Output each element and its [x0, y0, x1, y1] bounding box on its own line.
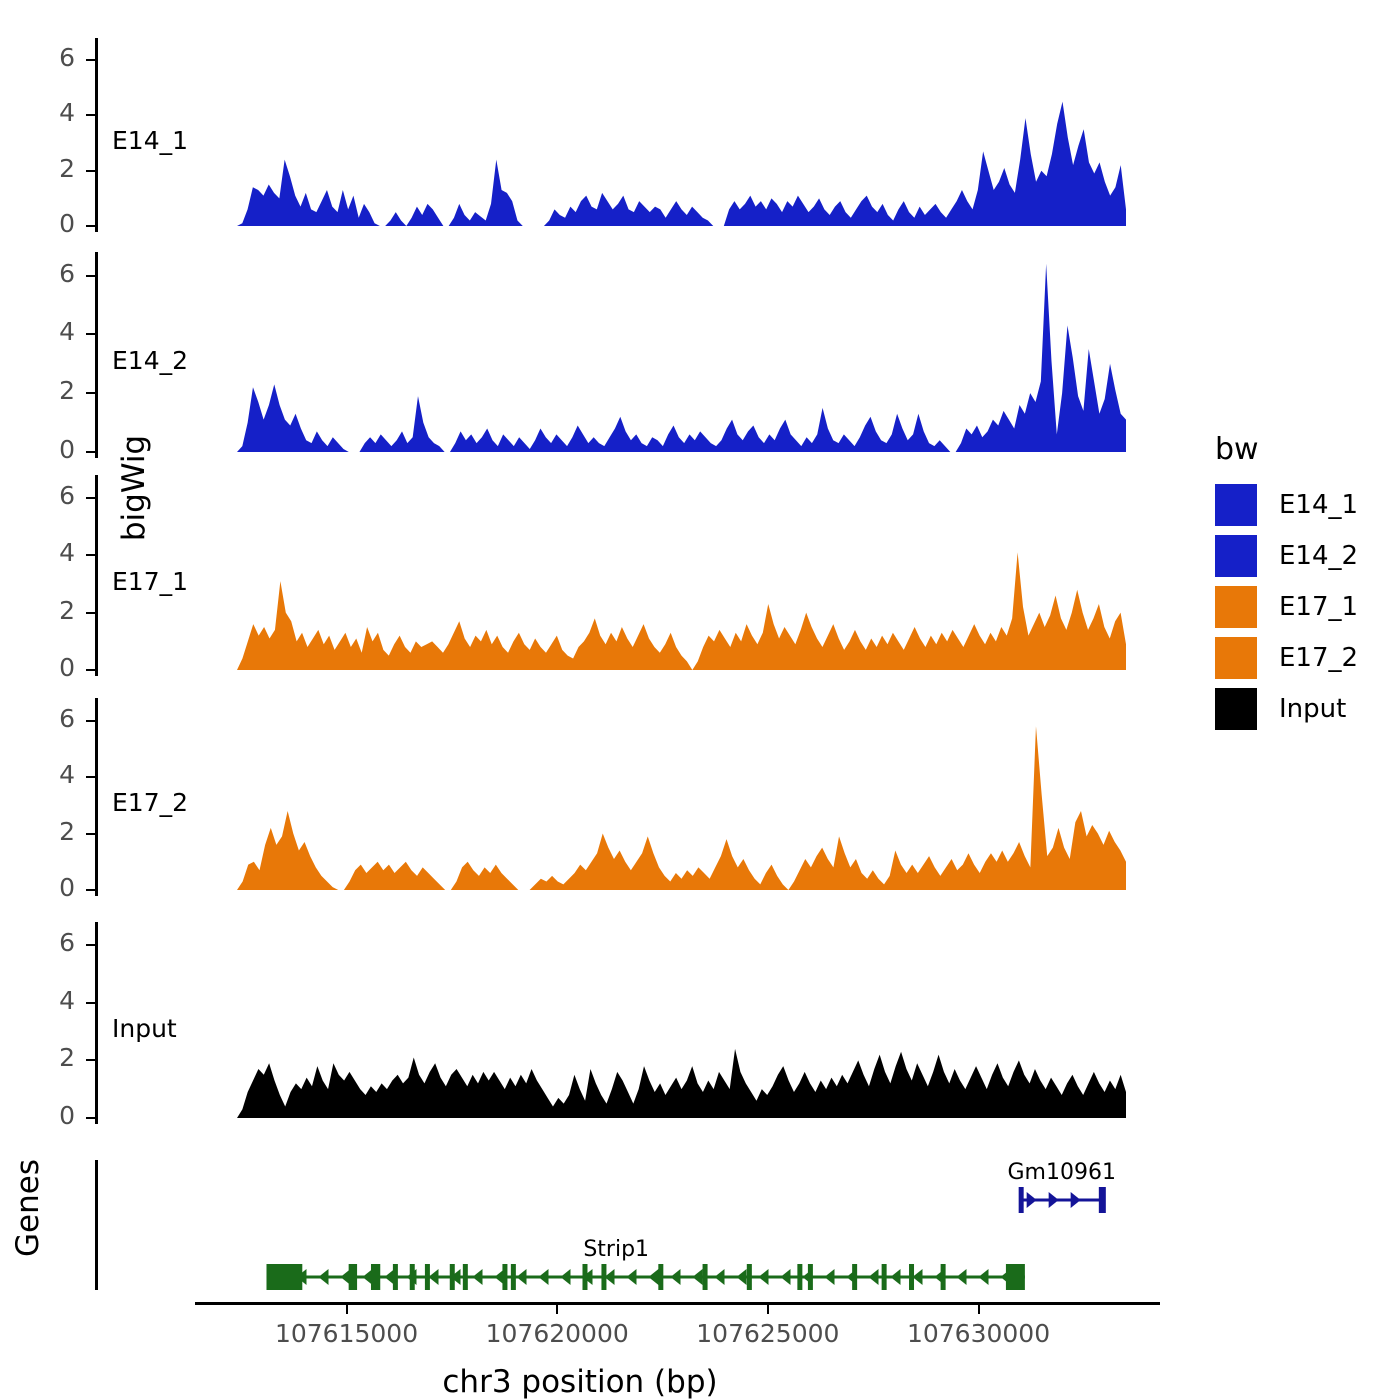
- y-tick-label: 4: [25, 986, 75, 1015]
- x-tick-label: 107615000: [247, 1319, 447, 1348]
- legend-item-input[interactable]: Input: [1215, 688, 1346, 730]
- y-axis-title-genes: Genes: [10, 1128, 46, 1288]
- wiggle-area-input: [0, 0, 1400, 1400]
- genes-axis-line: [95, 1160, 98, 1290]
- y-tick: [86, 554, 95, 556]
- gene-model-gm10961: [0, 0, 1400, 1400]
- y-tick-label: 0: [25, 653, 75, 682]
- y-tick-label: 6: [25, 43, 75, 72]
- y-tick: [86, 170, 95, 172]
- y-tick: [86, 59, 95, 61]
- y-tick: [86, 275, 95, 277]
- legend-label: E14_2: [1279, 541, 1358, 571]
- x-tick: [556, 1305, 558, 1314]
- y-tick-label: 2: [25, 817, 75, 846]
- gene-model-strip1: [0, 0, 1400, 1400]
- y-axis-line-e17_2: [95, 698, 98, 896]
- gene-label-strip1: Strip1: [466, 1237, 766, 1262]
- y-tick: [86, 497, 95, 499]
- legend-item-e14_1[interactable]: E14_1: [1215, 484, 1358, 526]
- y-tick-label: 0: [25, 435, 75, 464]
- x-tick: [346, 1305, 348, 1314]
- legend-title: bw: [1215, 432, 1259, 467]
- y-tick-label: 4: [25, 317, 75, 346]
- y-tick: [86, 451, 95, 453]
- y-tick-label: 4: [25, 98, 75, 127]
- y-tick: [86, 776, 95, 778]
- y-tick: [86, 889, 95, 891]
- y-tick: [86, 944, 95, 946]
- y-tick: [86, 114, 95, 116]
- y-tick-label: 2: [25, 154, 75, 183]
- y-tick-label: 4: [25, 760, 75, 789]
- y-tick-label: 6: [25, 481, 75, 510]
- legend-label: E17_1: [1279, 592, 1358, 622]
- y-tick-label: 0: [25, 1101, 75, 1130]
- wiggle-area-e17_1: [0, 0, 1400, 1400]
- x-tick: [767, 1305, 769, 1314]
- y-tick-label: 6: [25, 259, 75, 288]
- legend-swatch-e17_1: [1215, 586, 1257, 628]
- legend-label: E17_2: [1279, 643, 1358, 673]
- track-label-e14_1: E14_1: [112, 126, 188, 155]
- track-label-input: Input: [112, 1014, 177, 1043]
- x-axis-title: chr3 position (bp): [0, 1364, 1160, 1400]
- y-tick: [86, 1002, 95, 1004]
- y-tick-label: 6: [25, 704, 75, 733]
- y-tick: [86, 1117, 95, 1119]
- legend-item-e14_2[interactable]: E14_2: [1215, 535, 1358, 577]
- track-label-e17_1: E17_1: [112, 567, 188, 596]
- y-tick: [86, 1059, 95, 1061]
- y-axis-line-e14_2: [95, 252, 98, 458]
- legend-label: E14_1: [1279, 490, 1358, 520]
- y-tick: [86, 333, 95, 335]
- y-axis-line-e17_1: [95, 475, 98, 676]
- legend-item-e17_2[interactable]: E17_2: [1215, 637, 1358, 679]
- y-tick-label: 2: [25, 596, 75, 625]
- y-tick-label: 0: [25, 873, 75, 902]
- y-tick: [86, 669, 95, 671]
- y-tick-label: 0: [25, 209, 75, 238]
- legend-item-e17_1[interactable]: E17_1: [1215, 586, 1358, 628]
- track-label-e17_2: E17_2: [112, 788, 188, 817]
- legend-swatch-e14_1: [1215, 484, 1257, 526]
- x-tick-label: 107625000: [668, 1319, 868, 1348]
- legend-swatch-e17_2: [1215, 637, 1257, 679]
- y-tick: [86, 833, 95, 835]
- y-tick: [86, 225, 95, 227]
- y-tick: [86, 720, 95, 722]
- y-axis-line-input: [95, 922, 98, 1124]
- legend-swatch-input: [1215, 688, 1257, 730]
- legend-swatch-e14_2: [1215, 535, 1257, 577]
- wiggle-area-e14_1: [0, 0, 1400, 1400]
- gene-label-gm10961: Gm10961: [912, 1160, 1212, 1185]
- legend-label: Input: [1279, 694, 1346, 724]
- y-tick-label: 6: [25, 928, 75, 957]
- x-tick-label: 107620000: [457, 1319, 657, 1348]
- y-tick: [86, 612, 95, 614]
- x-tick: [978, 1305, 980, 1314]
- y-tick-label: 2: [25, 1043, 75, 1072]
- track-label-e14_2: E14_2: [112, 346, 188, 375]
- x-tick-label: 107630000: [879, 1319, 1079, 1348]
- x-axis-line: [195, 1302, 1160, 1305]
- y-tick-label: 4: [25, 538, 75, 567]
- y-axis-line-e14_1: [95, 38, 98, 232]
- wiggle-area-e17_2: [0, 0, 1400, 1400]
- wiggle-area-e14_2: [0, 0, 1400, 1400]
- y-tick-label: 2: [25, 376, 75, 405]
- y-tick: [86, 392, 95, 394]
